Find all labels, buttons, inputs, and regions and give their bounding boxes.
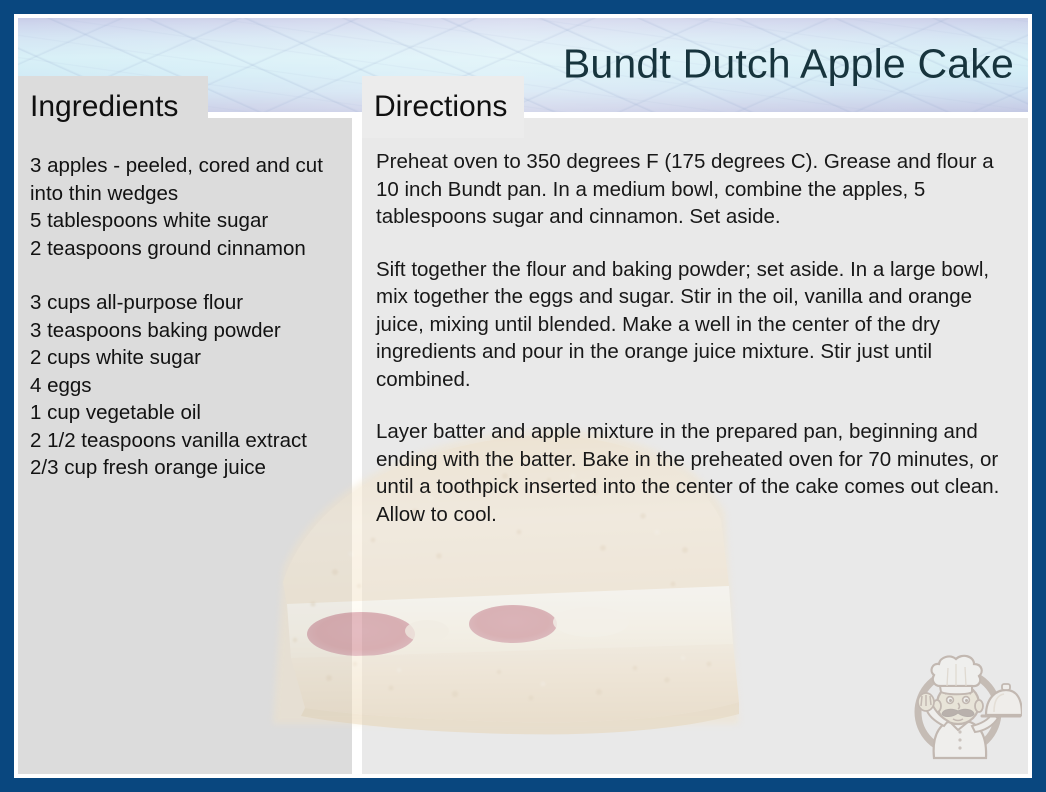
list-item: 5 tablespoons white sugar [30,207,340,235]
ingredients-list: 3 apples - peeled, cored and cut into th… [18,118,352,482]
recipe-title: Bundt Dutch Apple Cake [563,41,1014,88]
list-item: 2 teaspoons ground cinnamon [30,235,340,263]
directions-steps: Preheat oven to 350 degrees F (175 degre… [362,118,1028,528]
list-item: 2 1/2 teaspoons vanilla extract [30,427,340,455]
list-item: 2/3 cup fresh orange juice [30,454,340,482]
directions-panel: Directions Preheat oven to 350 degrees F… [362,118,1028,774]
list-item: 1 cup vegetable oil [30,399,340,427]
direction-step: Preheat oven to 350 degrees F (175 degre… [376,148,1012,231]
list-item: 4 eggs [30,372,340,400]
ingredients-panel: Ingredients 3 apples - peeled, cored and… [18,118,352,774]
ingredient-group-spacer [30,262,340,289]
list-item: 3 apples - peeled, cored and cut into th… [30,152,340,207]
list-item: 3 cups all-purpose flour [30,289,340,317]
list-item: 2 cups white sugar [30,344,340,372]
recipe-card: Bundt Dutch Apple Cake [0,0,1046,792]
recipe-body: Ingredients 3 apples - peeled, cored and… [18,118,1028,774]
recipe-card-inner: Bundt Dutch Apple Cake [14,14,1032,778]
list-item: 3 teaspoons baking powder [30,317,340,345]
direction-step: Sift together the flour and baking powde… [376,256,1012,394]
direction-step: Layer batter and apple mixture in the pr… [376,418,1012,528]
